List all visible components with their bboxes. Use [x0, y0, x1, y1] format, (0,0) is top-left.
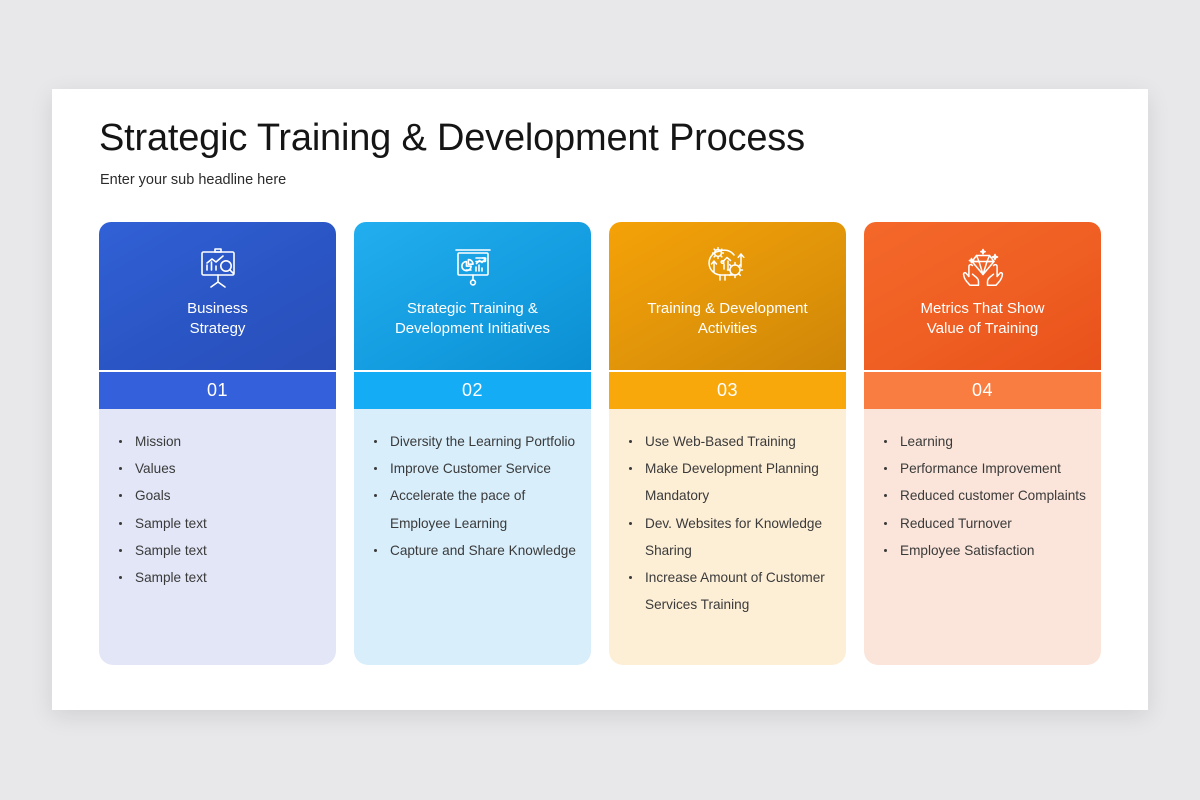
card-body-1: Mission Values Goals Sample text Sample …	[99, 409, 336, 665]
bullet-list-1: Mission Values Goals Sample text Sample …	[113, 428, 324, 591]
card-title-3-line2: Activities	[698, 320, 757, 337]
card-header-1: Business Strategy	[99, 222, 336, 370]
list-item: Values	[113, 455, 324, 482]
card-number-2: 02	[354, 370, 591, 409]
process-cards: Business Strategy 01 Mission Values Goal…	[99, 222, 1105, 665]
list-item: Accelerate the pace of Employee Learning	[368, 482, 579, 536]
card-header-3: Training & Development Activities	[609, 222, 846, 370]
list-item: Sample text	[113, 537, 324, 564]
card-title-2-line2: Development Initiatives	[395, 320, 550, 337]
card-title-3-line1: Training & Development	[647, 300, 807, 317]
card-title-4-line2: Value of Training	[927, 320, 1038, 337]
card-title-1-line2: Strategy	[190, 320, 246, 337]
card-number-3: 03	[609, 370, 846, 409]
list-item: Increase Amount of Customer Services Tra…	[623, 564, 834, 618]
list-item: Performance Improvement	[878, 455, 1089, 482]
bullet-list-4: Learning Performance Improvement Reduced…	[878, 428, 1089, 564]
list-item: Improve Customer Service	[368, 455, 579, 482]
card-body-2: Diversity the Learning Portfolio Improve…	[354, 409, 591, 665]
bullet-list-3: Use Web-Based Training Make Development …	[623, 428, 834, 618]
card-number-1: 01	[99, 370, 336, 409]
card-title-4-line1: Metrics That Show	[921, 300, 1045, 317]
page-title: Strategic Training & Development Process	[99, 117, 805, 160]
card-title-2-line1: Strategic Training &	[407, 300, 538, 317]
list-item: Use Web-Based Training	[623, 428, 834, 455]
bullet-list-2: Diversity the Learning Portfolio Improve…	[368, 428, 579, 564]
presentation-board-chart-search-icon	[191, 239, 245, 293]
list-item: Reduced Turnover	[878, 510, 1089, 537]
card-header-2: Strategic Training & Development Initiat…	[354, 222, 591, 370]
list-item: Diversity the Learning Portfolio	[368, 428, 579, 455]
list-item: Mission	[113, 428, 324, 455]
process-card-1[interactable]: Business Strategy 01 Mission Values Goal…	[99, 222, 336, 665]
hands-holding-diamond-icon	[956, 239, 1010, 293]
card-body-4: Learning Performance Improvement Reduced…	[864, 409, 1101, 665]
list-item: Make Development Planning Mandatory	[623, 455, 834, 509]
process-card-4[interactable]: Metrics That Show Value of Training 04 L…	[864, 222, 1101, 665]
slide-canvas: Strategic Training & Development Process…	[0, 0, 1200, 800]
card-body-3: Use Web-Based Training Make Development …	[609, 409, 846, 665]
head-gears-growth-chart-icon	[701, 239, 755, 293]
list-item: Sample text	[113, 510, 324, 537]
list-item: Sample text	[113, 564, 324, 591]
slide: Strategic Training & Development Process…	[52, 89, 1148, 710]
card-title-1-line1: Business	[187, 300, 248, 317]
card-title-1: Business Strategy	[179, 299, 256, 339]
list-item: Employee Satisfaction	[878, 537, 1089, 564]
card-header-4: Metrics That Show Value of Training	[864, 222, 1101, 370]
process-card-3[interactable]: Training & Development Activities 03 Use…	[609, 222, 846, 665]
projector-screen-analytics-icon	[446, 239, 500, 293]
list-item: Dev. Websites for Knowledge Sharing	[623, 510, 834, 564]
card-number-4: 04	[864, 370, 1101, 409]
card-title-3: Training & Development Activities	[639, 299, 815, 339]
card-title-4: Metrics That Show Value of Training	[913, 299, 1053, 339]
card-title-2: Strategic Training & Development Initiat…	[387, 299, 558, 339]
process-card-2[interactable]: Strategic Training & Development Initiat…	[354, 222, 591, 665]
page-subtitle: Enter your sub headline here	[100, 172, 286, 188]
list-item: Capture and Share Knowledge	[368, 537, 579, 564]
list-item: Learning	[878, 428, 1089, 455]
list-item: Reduced customer Complaints	[878, 482, 1089, 509]
list-item: Goals	[113, 482, 324, 509]
